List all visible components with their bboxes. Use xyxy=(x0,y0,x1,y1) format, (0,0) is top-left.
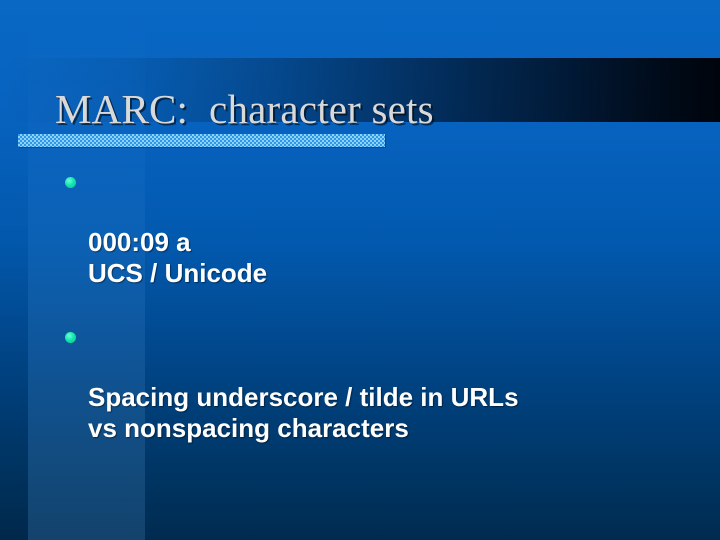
list-item-text: 000:09 a UCS / Unicode xyxy=(88,227,267,288)
slide-body: 000:09 a UCS / Unicode Spacing underscor… xyxy=(60,166,680,443)
filled-circle-bullet-icon xyxy=(65,332,76,343)
footer-accent-bar xyxy=(54,521,333,540)
list-item-text: Spacing underscore / tilde in URLs vs no… xyxy=(88,382,519,443)
presentation-slide: MARC: character sets 000:09 a UCS / Unic… xyxy=(0,0,720,540)
slide-title: MARC: character sets xyxy=(55,89,675,130)
filled-circle-bullet-icon xyxy=(65,177,76,188)
list-item: 000:09 a UCS / Unicode xyxy=(60,166,680,289)
list-item: Spacing underscore / tilde in URLs vs no… xyxy=(60,321,680,444)
left-edge-shade xyxy=(0,0,28,540)
title-rule-decoration xyxy=(18,134,385,147)
